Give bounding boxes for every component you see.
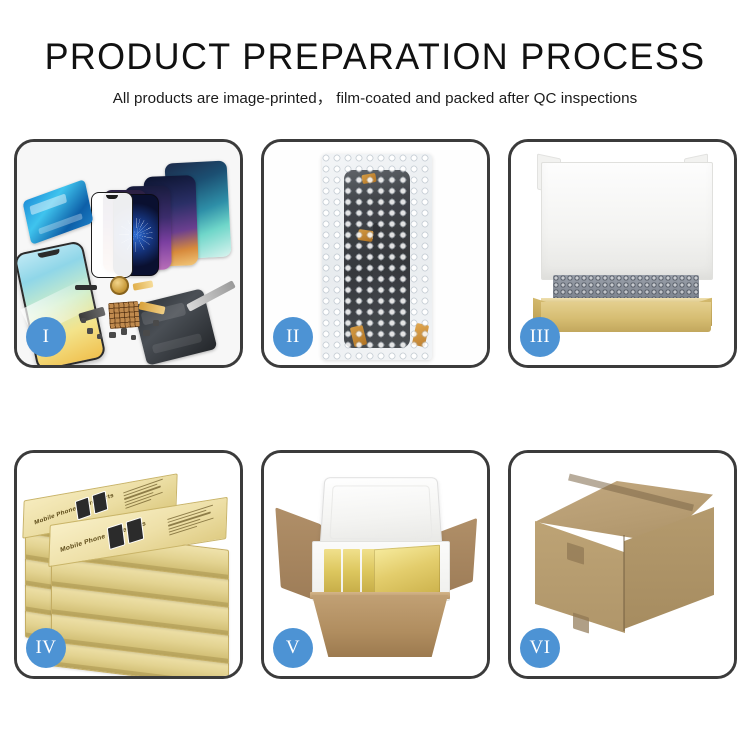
foam-liner	[541, 162, 713, 280]
box-label-thumbnails	[107, 517, 145, 550]
process-step-4: Mobile Phone Spare Parts Mobile Phone Sp…	[14, 450, 243, 679]
step-badge-3: III	[520, 317, 560, 357]
kraft-inner-box	[541, 302, 711, 332]
page-subtitle: All products are image-printed， film-coa…	[0, 86, 750, 108]
speaker-coil-part	[110, 276, 129, 295]
bubble-wrap-bag	[322, 154, 432, 360]
step-badge-5: V	[273, 628, 313, 668]
product-preparation-infographic: PRODUCT PREPARATION PROCESS All products…	[0, 0, 750, 750]
tape-strip-2	[357, 229, 373, 242]
process-step-6: VI	[508, 450, 737, 679]
process-step-3: III	[508, 139, 737, 368]
tape-strip-4	[412, 323, 429, 347]
flex-cable-3	[133, 280, 154, 290]
process-step-2: II	[261, 139, 490, 368]
wrapped-part	[344, 170, 410, 348]
step-badge-6: VI	[520, 628, 560, 668]
part-cable	[373, 223, 380, 333]
step-badge-1: I	[26, 317, 66, 357]
step-badge-2: II	[273, 317, 313, 357]
process-step-5: V	[261, 450, 490, 679]
box-label-lines	[167, 505, 215, 536]
earpiece-mesh-part	[75, 285, 97, 290]
tempered-glass-protector	[91, 192, 133, 278]
carton-corner-seam	[623, 535, 625, 631]
adhesive-sheet	[22, 179, 93, 245]
foam-cooler-lid	[319, 477, 442, 550]
shipping-carton	[312, 595, 448, 657]
step-badge-4: IV	[26, 628, 66, 668]
chip-board-part	[108, 301, 140, 329]
process-step-grid: I II	[14, 139, 736, 739]
gold-boxes-block	[374, 545, 440, 598]
header: PRODUCT PREPARATION PROCESS All products…	[0, 38, 750, 108]
box-label-lines	[123, 479, 165, 509]
process-step-1: I	[14, 139, 243, 368]
page-title: PRODUCT PREPARATION PROCESS	[11, 38, 739, 77]
